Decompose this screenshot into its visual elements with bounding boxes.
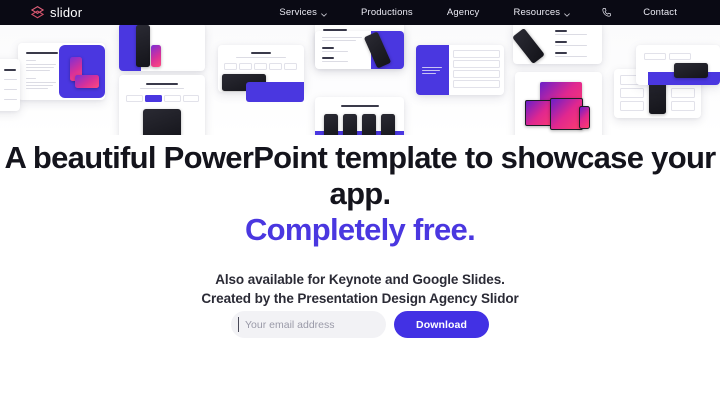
page-title: A beautiful PowerPoint template to showc… xyxy=(0,140,720,248)
slide-new-application[interactable] xyxy=(119,75,205,135)
phone-handset-icon[interactable] xyxy=(587,7,626,18)
heading-accent: Completely free. xyxy=(0,212,720,248)
slide-device-callouts[interactable] xyxy=(315,31,404,69)
slide-partial-right[interactable] xyxy=(636,45,720,85)
nav-item-agency[interactable]: Agency xyxy=(430,7,497,18)
nav-label: Services xyxy=(279,7,317,18)
landing-page: slidor Services Productions Agency Resou… xyxy=(0,0,720,400)
navbar: slidor Services Productions Agency Resou… xyxy=(0,0,720,25)
hero-subheading: Also available for Keynote and Google Sl… xyxy=(195,270,525,309)
signup-form: Download xyxy=(0,311,720,338)
download-button[interactable]: Download xyxy=(394,311,489,338)
nav-label: Contact xyxy=(643,7,677,18)
slide-design-adapting[interactable] xyxy=(416,45,504,95)
hero-text: A beautiful PowerPoint template to showc… xyxy=(0,140,720,309)
nav-links: Services Productions Agency Resources xyxy=(262,7,694,18)
text-caret xyxy=(238,317,239,332)
nav-label: Agency xyxy=(447,7,480,18)
chevron-down-icon xyxy=(564,10,570,16)
slide-phone-annotated[interactable] xyxy=(513,25,602,64)
email-input[interactable] xyxy=(231,311,386,338)
brand-name: slidor xyxy=(50,5,82,20)
nav-item-services[interactable]: Services xyxy=(262,7,344,18)
nav-item-productions[interactable]: Productions xyxy=(344,7,430,18)
slide-customer-journey[interactable] xyxy=(18,43,105,100)
email-field-wrapper xyxy=(231,311,386,338)
slide-partial-left[interactable] xyxy=(0,59,20,111)
slide-available-ios-android[interactable] xyxy=(315,97,404,135)
slide-the-menu-accent-bar xyxy=(246,82,304,102)
nav-label: Resources xyxy=(513,7,560,18)
heading-line-1: A beautiful PowerPoint template to xyxy=(4,140,492,175)
slide-team-members[interactable] xyxy=(119,25,205,71)
nav-item-contact[interactable]: Contact xyxy=(626,7,694,18)
slide-multi-device[interactable] xyxy=(515,72,602,135)
brand-logo[interactable]: slidor xyxy=(30,5,82,20)
nav-label: Productions xyxy=(361,7,413,18)
hexagon-layers-icon xyxy=(30,5,45,20)
chevron-down-icon xyxy=(321,10,327,16)
nav-item-resources[interactable]: Resources xyxy=(496,7,587,18)
hero-slide-collage xyxy=(0,25,720,135)
